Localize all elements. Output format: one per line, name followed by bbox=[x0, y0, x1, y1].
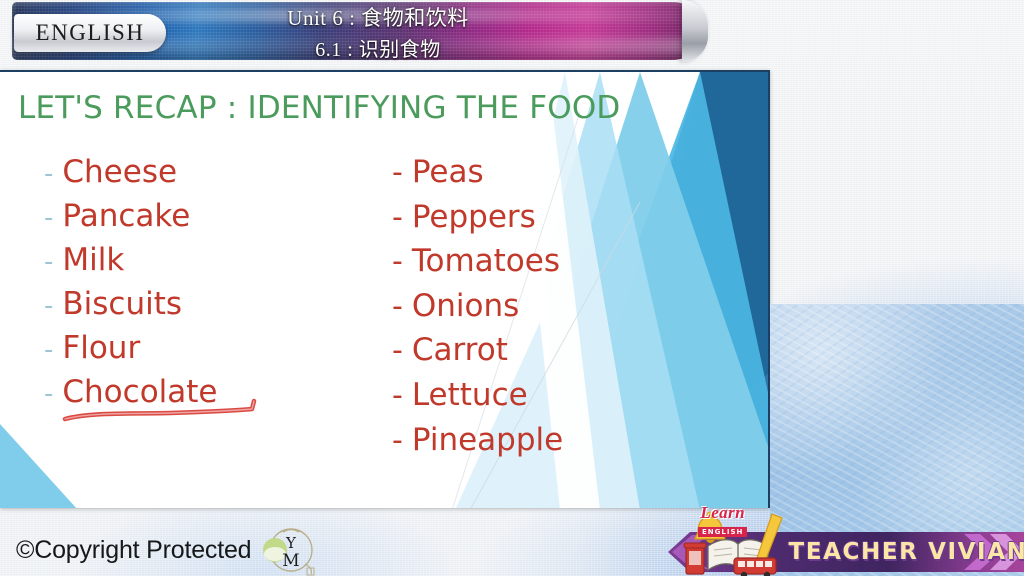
list-item-label: Peas bbox=[412, 150, 484, 194]
phone-booth-icon bbox=[684, 543, 706, 574]
unit-title-line1: Unit 6 : 食物和饮料 bbox=[287, 2, 468, 32]
bullet-dash: - bbox=[392, 330, 403, 373]
presentation-screen: Unit 6 : 食物和饮料 6.1 : 识别食物 ENGLISH LET'S … bbox=[0, 0, 1024, 576]
lesson-header-banner: Unit 6 : 食物和饮料 6.1 : 识别食物 ENGLISH bbox=[0, 0, 706, 62]
slide-canvas: LET'S RECAP : IDENTIFYING THE FOOD - Che… bbox=[0, 70, 770, 508]
slide-title: LET'S RECAP : IDENTIFYING THE FOOD bbox=[18, 90, 621, 126]
double-decker-bus-icon bbox=[734, 558, 776, 576]
bullet-dash: - bbox=[44, 156, 53, 193]
learn-english-logo: Learn ENGLISH bbox=[698, 504, 747, 539]
list-item-label: Carrot bbox=[412, 328, 508, 372]
list-item: - Cheese bbox=[44, 150, 218, 194]
bullet-dash: - bbox=[392, 152, 403, 195]
list-item: - Peppers bbox=[392, 195, 563, 240]
food-list-right-column: - Peas - Peppers - Tomatoes - Onions - bbox=[392, 150, 563, 462]
subject-pill: ENGLISH bbox=[14, 14, 166, 52]
list-item-label: Pancake bbox=[62, 194, 190, 238]
list-item: - Peas bbox=[392, 150, 563, 195]
copyright-text: ©Copyright Protected bbox=[16, 536, 251, 565]
bullet-dash: - bbox=[44, 200, 53, 237]
list-item: - Tomatoes bbox=[392, 239, 563, 284]
bullet-dash: - bbox=[392, 420, 403, 463]
list-item-label: Pineapple bbox=[412, 418, 563, 462]
unit-title-block: Unit 6 : 食物和饮料 6.1 : 识别食物 bbox=[168, 4, 588, 60]
list-item: - Pancake bbox=[44, 194, 218, 238]
logo-letter-bottom: M bbox=[283, 551, 300, 571]
handwritten-underline-annotation bbox=[62, 398, 272, 432]
list-item-label: Onions bbox=[412, 284, 519, 328]
list-item-label: Biscuits bbox=[62, 282, 182, 326]
banner-end-cap bbox=[682, 0, 708, 62]
bullet-dash: - bbox=[392, 241, 403, 284]
unit-title-line2: 6.1 : 识别食物 bbox=[315, 33, 441, 62]
list-item-label: Flour bbox=[62, 326, 140, 370]
ym-watermark-logo: Y M bbox=[261, 524, 317, 576]
list-item: - Pineapple bbox=[392, 418, 563, 463]
bullet-dash: - bbox=[44, 332, 53, 369]
bullet-dash: - bbox=[44, 244, 53, 281]
logo-word-english: ENGLISH bbox=[698, 527, 747, 537]
list-item: - Onions bbox=[392, 284, 563, 329]
list-item: - Milk bbox=[44, 238, 218, 282]
list-item-label: Peppers bbox=[412, 195, 536, 239]
subject-label: ENGLISH bbox=[36, 20, 145, 46]
bullet-dash: - bbox=[392, 197, 403, 240]
logo-word-learn: Learn bbox=[698, 504, 747, 521]
bullet-dash: - bbox=[44, 376, 53, 413]
list-item-label: Lettuce bbox=[412, 373, 528, 417]
list-item: - Lettuce bbox=[392, 373, 563, 418]
food-list-left-column: - Cheese - Pancake - Milk - Biscuits - bbox=[44, 150, 218, 414]
list-item-label: Milk bbox=[62, 238, 124, 282]
teacher-name-label: TEACHER VIVIAN bbox=[796, 534, 1020, 570]
list-item: - Carrot bbox=[392, 328, 563, 373]
logo-letter-top: Y bbox=[285, 534, 297, 552]
bullet-dash: - bbox=[392, 375, 403, 418]
bullet-dash: - bbox=[392, 286, 403, 329]
list-item-label: Cheese bbox=[62, 150, 177, 194]
list-item: - Flour bbox=[44, 326, 218, 370]
list-item: - Biscuits bbox=[44, 282, 218, 326]
teacher-name-banner: Learn ENGLISH TEACHER VIVIAN bbox=[668, 528, 1024, 576]
copyright-notice: ©Copyright Protected Y M bbox=[16, 524, 317, 576]
list-item-label: Tomatoes bbox=[412, 239, 560, 283]
bullet-dash: - bbox=[44, 288, 53, 325]
